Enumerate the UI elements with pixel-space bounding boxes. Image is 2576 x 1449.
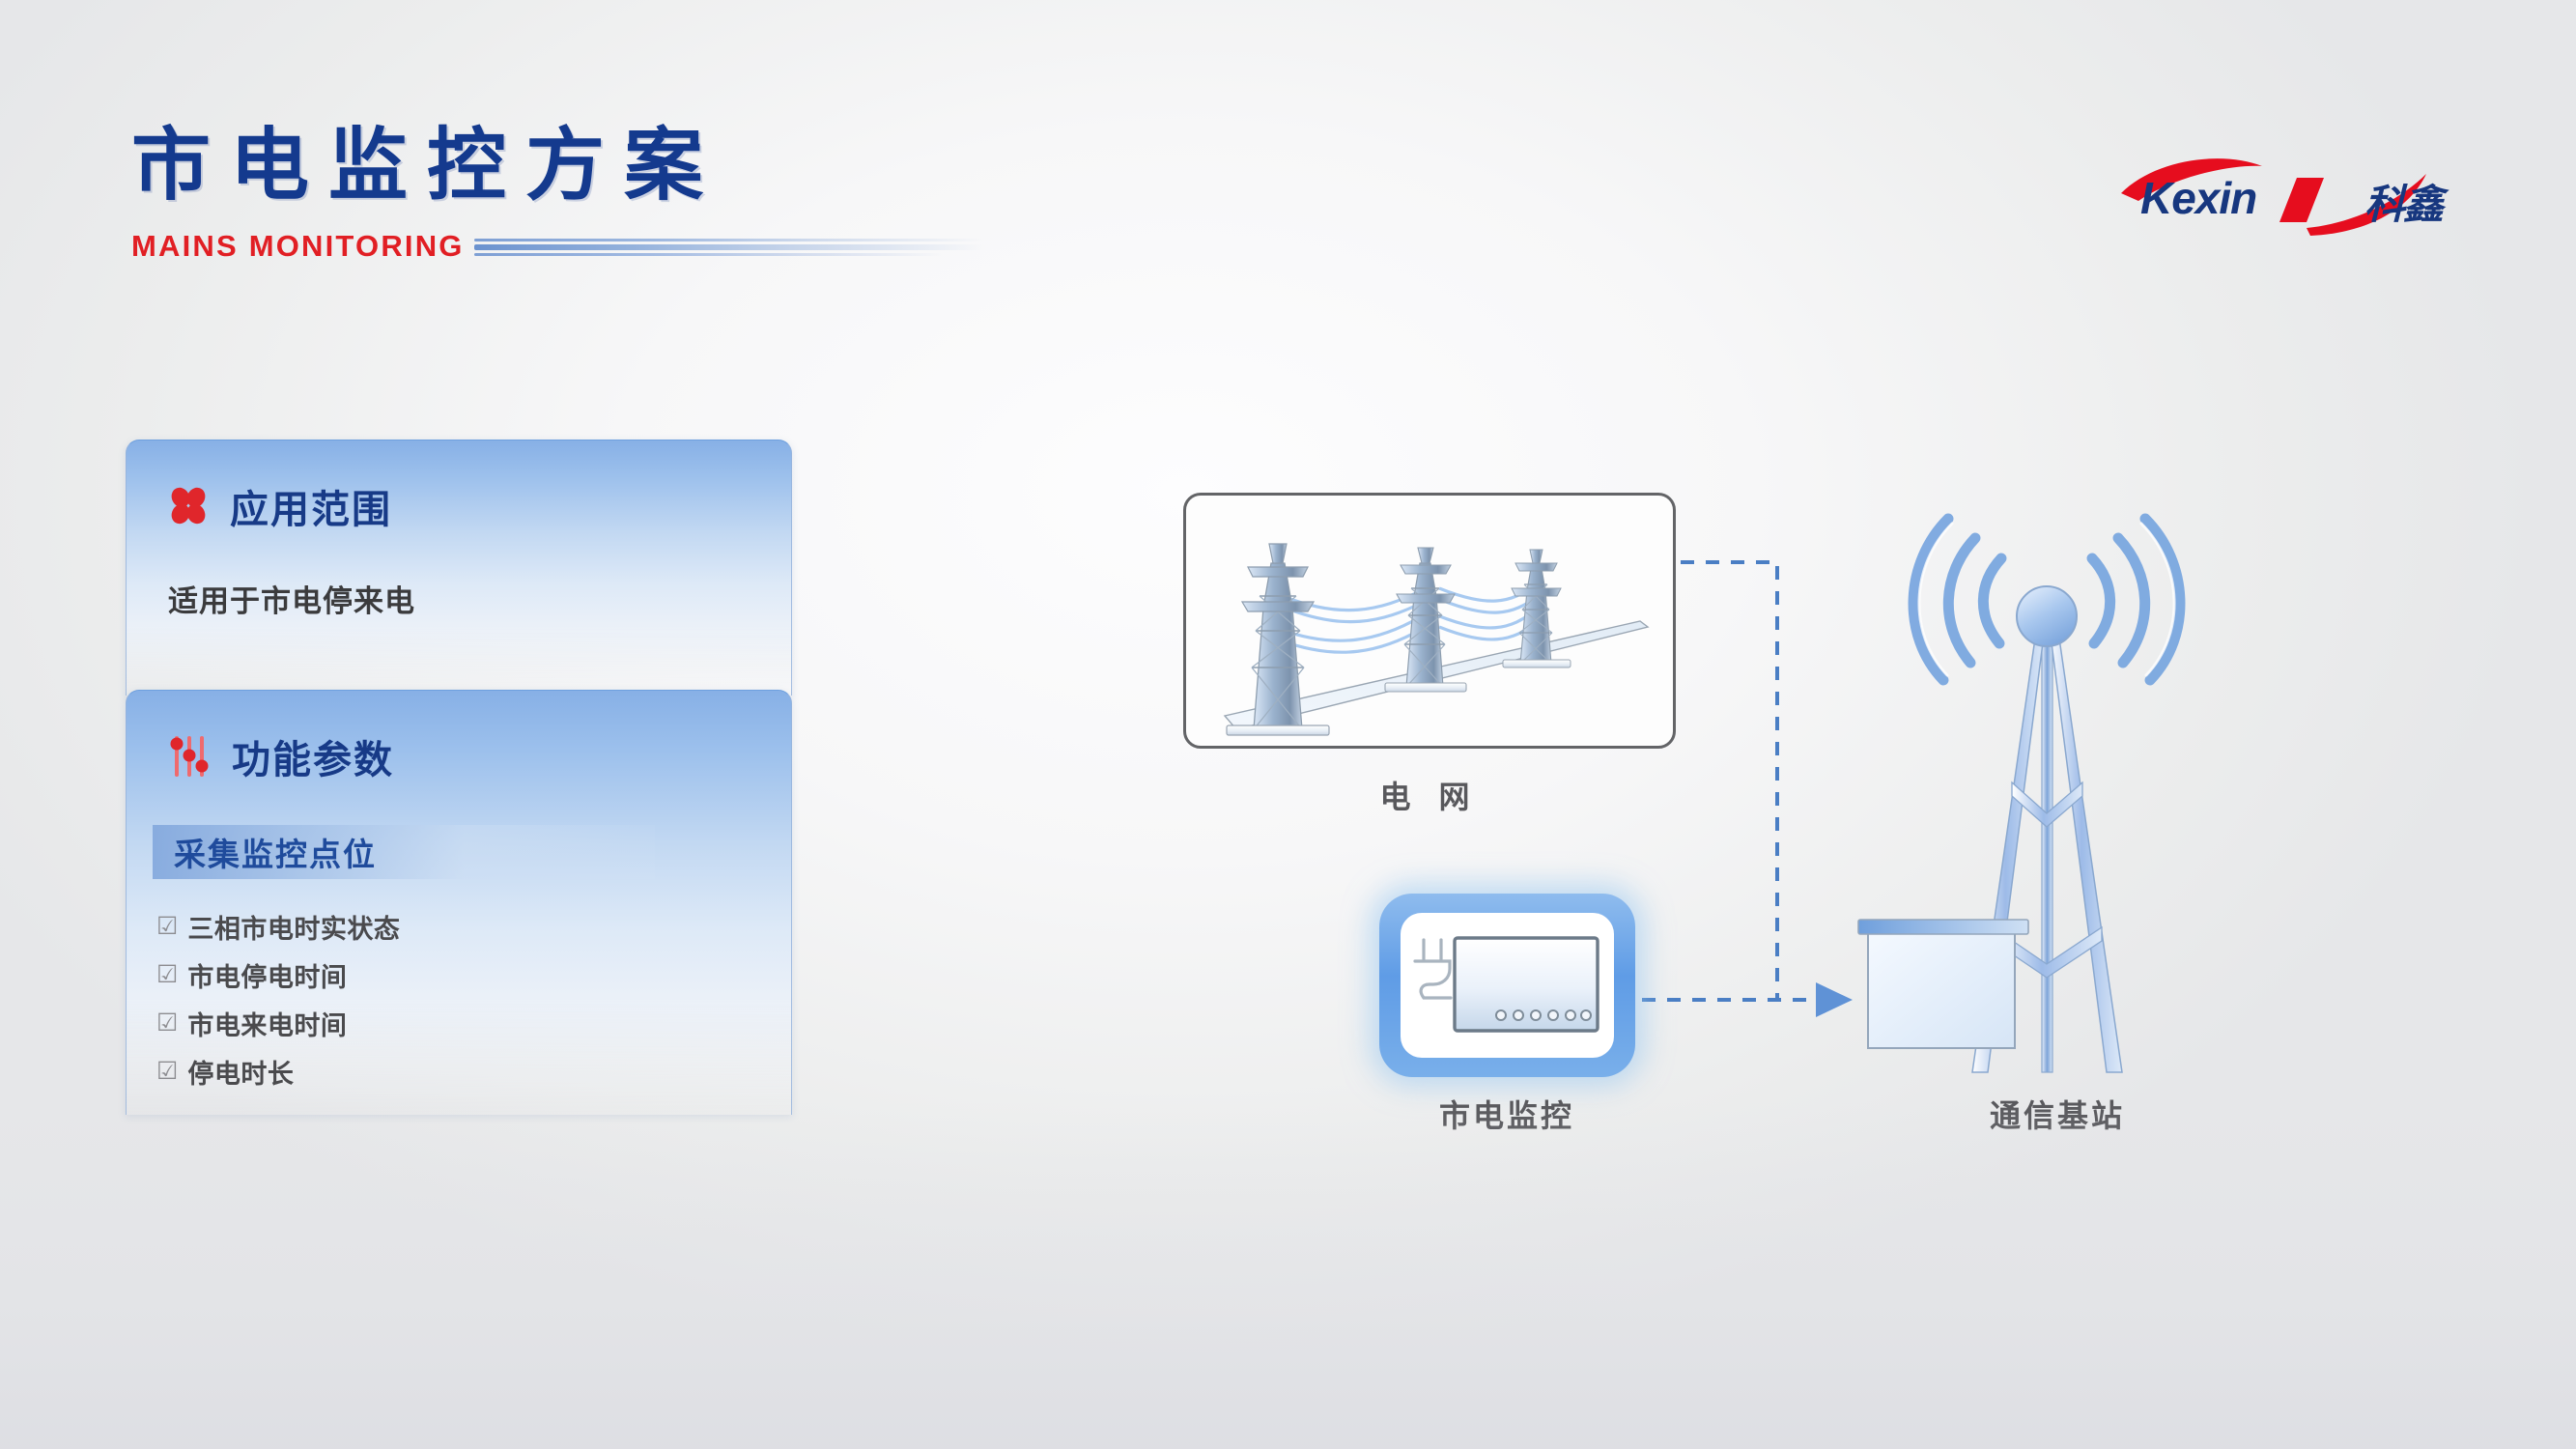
mains-monitor-device-icon: [1401, 913, 1614, 1058]
checkbox-icon[interactable]: ☑: [156, 1060, 178, 1084]
decorative-lines: [474, 234, 986, 259]
logo-wordmark: Kexin: [2140, 172, 2256, 224]
list-item: ☑ 市电来电时间: [156, 1005, 750, 1042]
list-item: ☑ 停电时长: [156, 1053, 750, 1091]
slide-canvas: 市电监控方案 MAINS MONITORING Kexin 科鑫: [0, 0, 2576, 1449]
node-label-grid: 电 网: [1270, 773, 1589, 817]
mains-monitor-node: [1379, 894, 1635, 1077]
card-header: 功能参数: [168, 728, 750, 784]
section-label-bar: 采集监控点位: [153, 825, 655, 879]
architecture-diagram: 电 网: [1140, 454, 2453, 1150]
page-subtitle-row: MAINS MONITORING: [131, 229, 1484, 264]
page-subtitle: MAINS MONITORING: [131, 229, 465, 264]
device-inner-panel: [1401, 913, 1614, 1058]
card-title: 功能参数: [232, 728, 394, 784]
logo-wordmark-cn: 科鑫: [2364, 172, 2442, 231]
list-item-label: 市电来电时间: [187, 1005, 347, 1042]
page-header: 市电监控方案 MAINS MONITORING: [131, 124, 1484, 264]
list-item-label: 三相市电时实状态: [187, 908, 400, 946]
checkbox-icon[interactable]: ☑: [156, 1011, 178, 1036]
decorative-line-3: [474, 253, 946, 256]
card-content: 功能参数 采集监控点位 ☑ 三相市电时实状态 ☑ 市电停电时间 ☑: [126, 690, 792, 1091]
clover-icon: [168, 486, 209, 526]
parameter-checklist: ☑ 三相市电时实状态 ☑ 市电停电时间 ☑ 市电来电时间 ☑ 停电时长: [156, 908, 750, 1091]
checkbox-icon[interactable]: ☑: [156, 915, 178, 939]
telecom-tower-icon: [1854, 473, 2260, 1082]
section-label: 采集监控点位: [174, 829, 377, 875]
decorative-line-2: [474, 244, 986, 250]
checkbox-icon[interactable]: ☑: [156, 963, 178, 987]
card-application-scope: 应用范围 适用于市电停来电: [126, 440, 792, 696]
info-card-stack: 应用范围 适用于市电停来电 功能参数: [126, 440, 792, 1115]
node-label-device: 市电监控: [1338, 1092, 1676, 1136]
list-item-label: 市电停电时间: [187, 956, 347, 994]
power-grid-panel: [1183, 493, 1676, 749]
list-item-label: 停电时长: [187, 1053, 294, 1091]
list-item: ☑ 市电停电时间: [156, 956, 750, 994]
card-header: 应用范围: [168, 478, 750, 534]
connector-grid-to-station: [1681, 562, 1777, 1000]
card-content: 应用范围 适用于市电停来电: [126, 440, 792, 620]
decorative-line-1: [474, 239, 986, 241]
card-function-parameters: 功能参数 采集监控点位 ☑ 三相市电时实状态 ☑ 市电停电时间 ☑: [126, 690, 792, 1115]
right-triangle-arrow-icon: [1816, 982, 1853, 1017]
card-body-text: 适用于市电停来电: [168, 577, 750, 620]
node-label-base-station: 通信基站: [1879, 1092, 2236, 1136]
power-grid-towers-icon: [1186, 496, 1673, 746]
base-station-node: [1854, 473, 2260, 1082]
sliders-icon: [168, 734, 211, 779]
card-title: 应用范围: [230, 478, 392, 534]
brand-logo: Kexin 科鑫: [2117, 153, 2446, 241]
page-title: 市电监控方案: [131, 124, 1484, 210]
list-item: ☑ 三相市电时实状态: [156, 908, 750, 946]
